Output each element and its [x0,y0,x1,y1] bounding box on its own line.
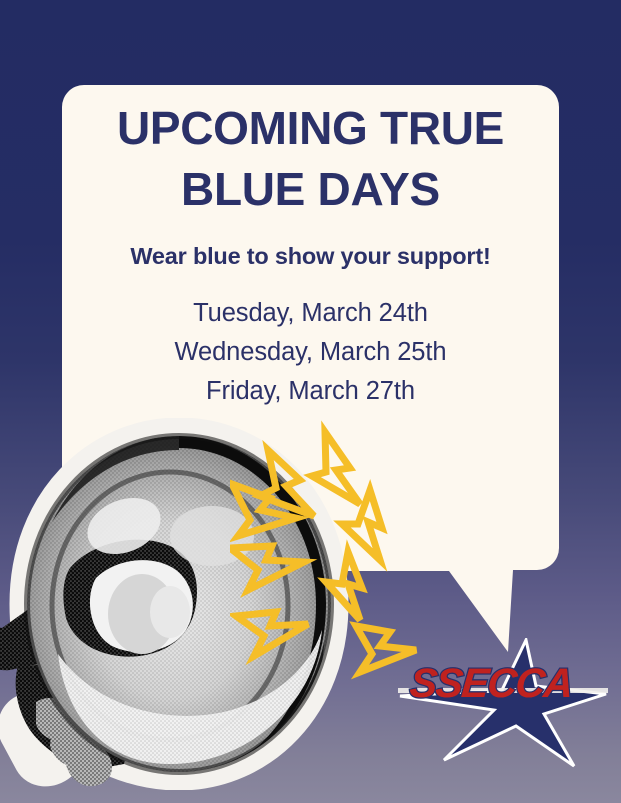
megaphone-icon [0,418,374,790]
list-item: Tuesday, March 24th [62,294,559,333]
logo-wordmark: SSECCA [408,660,574,707]
ssecca-logo: SSECCA SSECCA [398,638,608,768]
title-line-2: BLUE DAYS [181,163,440,215]
date-list: Tuesday, March 24th Wednesday, March 25t… [62,294,559,411]
title-line-1: UPCOMING TRUE [117,102,504,154]
page-title: UPCOMING TRUE BLUE DAYS [62,98,559,220]
poster-subtitle: Wear blue to show your support! [62,241,559,271]
list-item: Wednesday, March 25th [62,333,559,372]
poster-canvas: UPCOMING TRUE BLUE DAYS Wear blue to sho… [0,0,621,803]
list-item: Friday, March 27th [62,372,559,411]
poster-text-block: UPCOMING TRUE BLUE DAYS Wear blue to sho… [62,98,559,411]
